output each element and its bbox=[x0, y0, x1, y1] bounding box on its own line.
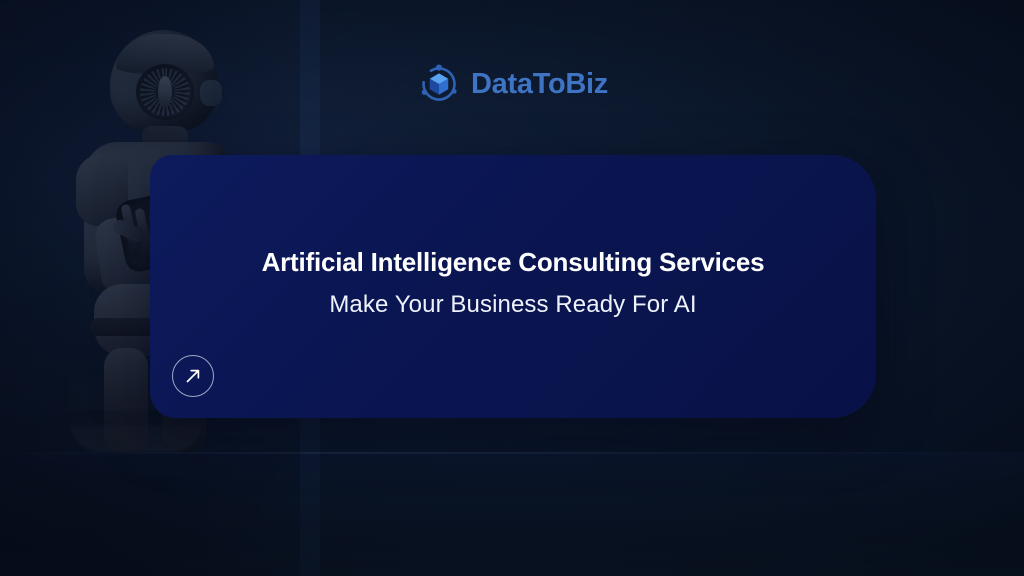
card-subtitle: Make Your Business Ready For AI bbox=[150, 291, 876, 320]
brand-logo[interactable]: DataToBiz bbox=[0, 61, 1024, 107]
reflective-floor bbox=[0, 452, 1024, 576]
logo-text: DataToBiz bbox=[471, 70, 608, 99]
card-title: Artificial Intelligence Consulting Servi… bbox=[150, 247, 876, 278]
hero-card: Artificial Intelligence Consulting Servi… bbox=[150, 155, 876, 418]
hero-banner: DataToBiz Artificial Intelligence Consul… bbox=[0, 0, 1024, 576]
arrow-up-right-icon bbox=[183, 366, 203, 386]
datatobiz-cube-orbit-icon bbox=[416, 61, 462, 107]
cta-arrow-button[interactable] bbox=[172, 355, 214, 397]
